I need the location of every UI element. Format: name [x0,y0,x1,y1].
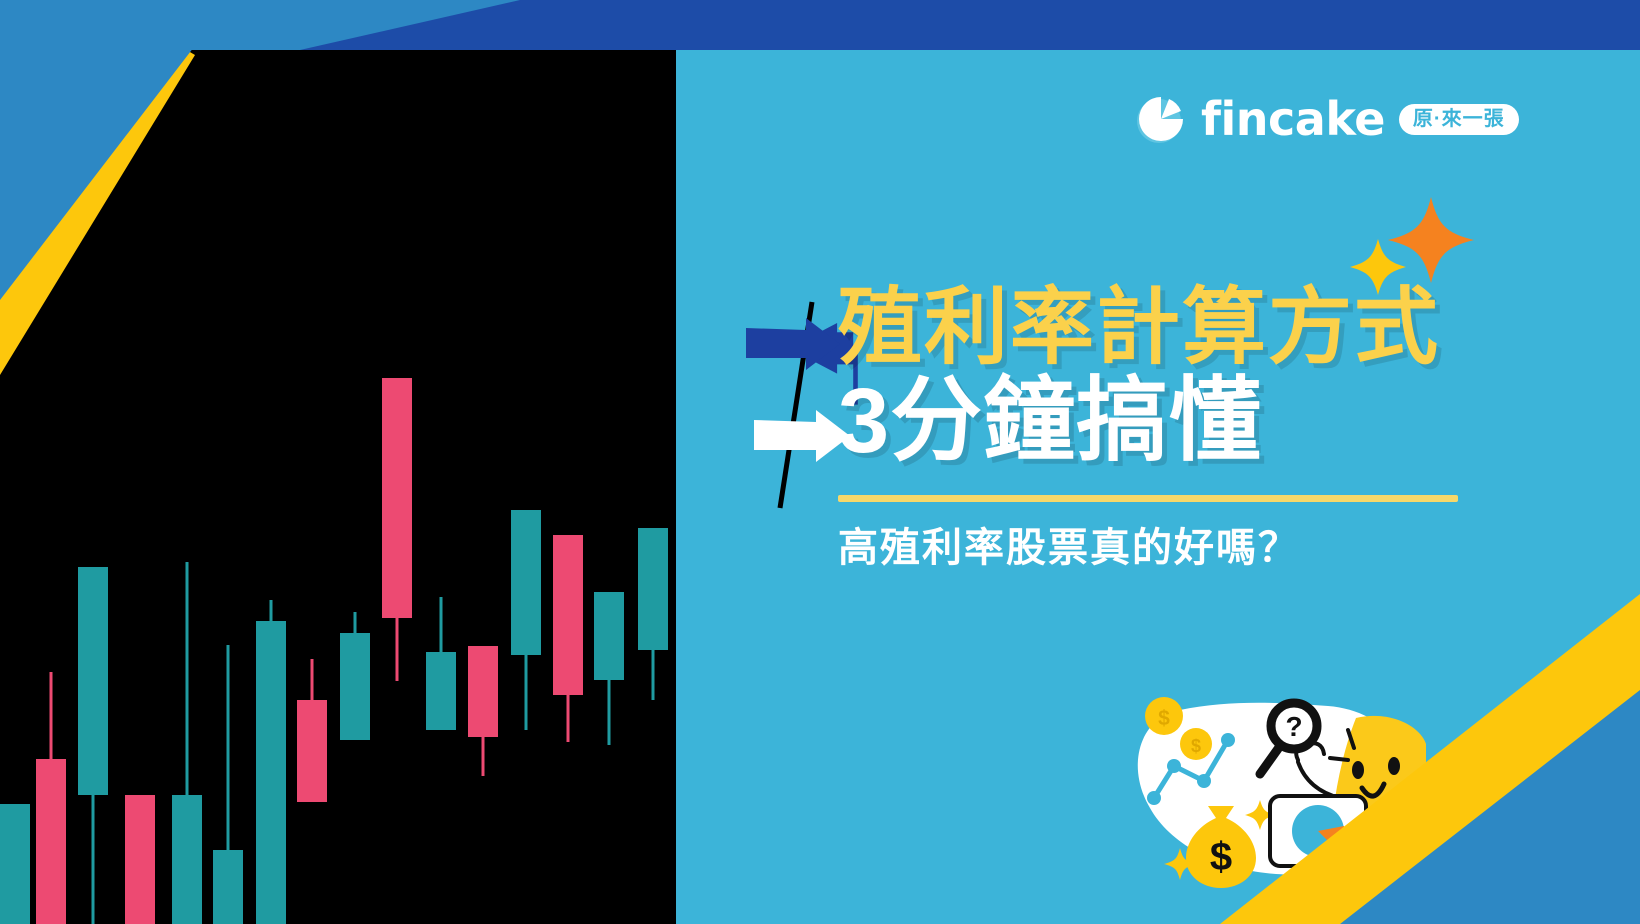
candlestick [594,0,624,924]
candlestick-body [468,646,498,737]
brand-badge: 原·來一張 [1399,104,1519,135]
candlestick [638,0,668,924]
poster-canvas: $ $ $ ? [0,0,1640,924]
candlestick [213,0,243,924]
candlestick [511,0,541,924]
candlestick [340,0,370,924]
candlestick-body [256,621,286,924]
content-panel: $ $ $ ? [676,0,1640,924]
candlestick [553,0,583,924]
candlestick [382,0,412,924]
coin-icon: $ [1145,697,1183,735]
candlestick-body [340,633,370,740]
candlestick-body [511,510,541,655]
svg-text:$: $ [1191,736,1201,756]
candlestick-body [78,567,108,795]
headline-divider [838,495,1458,502]
brand-name: fincake [1201,96,1385,142]
svg-text:$: $ [1210,835,1232,879]
candlestick-body [553,535,583,695]
candlestick [256,0,286,924]
headline-block: 殖利率計算方式 3分鐘搞懂 高殖利率股票真的好嗎？ [838,284,1488,572]
svg-text:$: $ [1158,707,1170,730]
candlestick [297,0,327,924]
headline-line-1: 殖利率計算方式 [838,284,1488,371]
headline-line-2: 3分鐘搞懂 [838,373,1488,471]
mascot-eye [1352,761,1364,779]
candlestick-body [213,850,243,924]
candlestick-body [594,592,624,680]
candlestick-body [0,804,30,924]
right-arrow-icon [754,410,850,462]
candlestick-body [297,700,327,802]
candlestick-body [172,795,202,924]
candlestick-body [638,528,668,650]
fincake-pac-logo-icon [1135,93,1187,145]
brand-logo[interactable]: fincake 原·來一張 [1135,93,1519,145]
coin-icon: $ [1180,728,1212,760]
headline-subtitle: 高殖利率股票真的好嗎？ [838,524,1488,572]
candlestick [468,0,498,924]
svg-text:?: ? [1285,711,1302,742]
candlestick-body [426,652,456,730]
candlestick-body [125,795,155,924]
candlestick [172,0,202,924]
candlestick-body [382,378,412,618]
mascot-eye [1388,757,1400,775]
candlestick-body [36,759,66,924]
candlestick [426,0,456,924]
